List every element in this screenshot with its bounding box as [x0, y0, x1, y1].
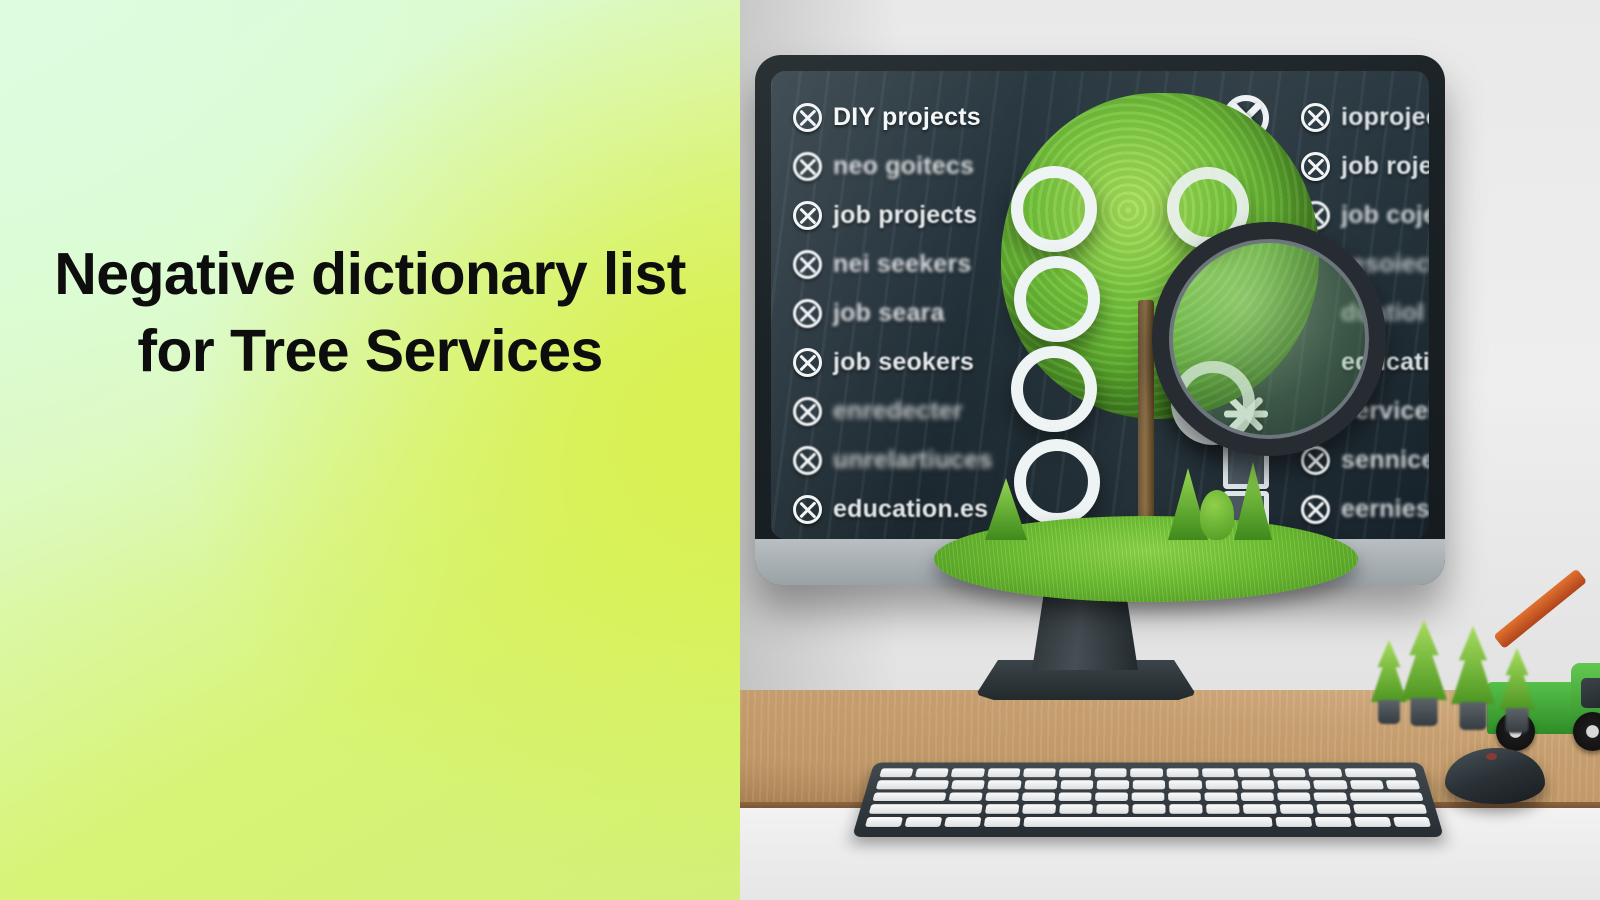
x-circle-icon [1301, 152, 1330, 181]
x-circle-badge [1011, 346, 1097, 432]
mini-tree-foliage [1451, 626, 1495, 704]
keyboard-row [865, 817, 1431, 827]
x-circle-icon [793, 299, 822, 328]
toy-truck-window [1581, 678, 1600, 708]
list-item-label: eernies [1341, 495, 1429, 524]
magnifying-glass [1152, 222, 1386, 456]
x-circle-icon [1301, 446, 1330, 475]
x-circle-icon [793, 446, 822, 475]
x-circle-icon [793, 250, 822, 279]
x-circle-icon [1301, 495, 1330, 524]
mini-tree-pot [1460, 702, 1487, 730]
keyboard[interactable] [852, 762, 1444, 837]
mini-tree-foliage [1499, 648, 1535, 710]
list-item-label: nei seekers [833, 250, 971, 279]
list-item-label: education.es [833, 495, 988, 524]
x-circle-icon [793, 495, 822, 524]
list-item-label: job projects [833, 201, 977, 230]
x-circle-icon [793, 201, 822, 230]
island-bush [1200, 490, 1234, 540]
list-item-label: DIY projects [833, 103, 981, 132]
mini-potted-tree [1398, 620, 1450, 728]
mini-tree-pot [1506, 708, 1529, 733]
left-gradient-panel: Negative dictionary list for Tree Servic… [0, 0, 740, 900]
list-item[interactable]: job cojec's [1301, 191, 1429, 240]
list-item-label: job seokers [833, 348, 974, 377]
list-item-label: ioprojects [1341, 103, 1429, 132]
list-item[interactable]: ioprojects [1301, 93, 1429, 142]
x-circle-icon [793, 348, 822, 377]
list-item-label: unrelartiuces [833, 446, 993, 475]
x-circle-badge [1011, 166, 1097, 252]
list-item-label: job rojects [1341, 152, 1429, 181]
screenshot-root: Negative dictionary list for Tree Servic… [0, 0, 1600, 900]
x-circle-badge [1014, 256, 1100, 342]
mouse-scroll-wheel[interactable] [1486, 753, 1497, 760]
x-circle-icon [793, 152, 822, 181]
keyboard-row [869, 805, 1428, 814]
mini-tree-pot [1378, 700, 1400, 724]
list-item[interactable]: job rojects [1301, 142, 1429, 191]
mini-potted-tree [1448, 626, 1498, 730]
mini-tree-foliage [1401, 620, 1447, 700]
list-item-label: sennices [1341, 446, 1429, 475]
page-title: Negative dictionary list for Tree Servic… [0, 236, 740, 391]
list-item-label: neo goitecs [833, 152, 974, 181]
mini-potted-tree [1496, 648, 1538, 732]
keyboard-keys [865, 768, 1431, 827]
x-circle-icon [1301, 103, 1330, 132]
list-item[interactable]: eernies [1301, 485, 1429, 534]
list-item[interactable]: DIY projects [793, 93, 1083, 142]
x-circle-icon [793, 397, 822, 426]
mini-tree-pot [1411, 698, 1438, 726]
list-item-label: job seara [833, 299, 945, 328]
x-circle-icon [793, 103, 822, 132]
x-circle-badge [1014, 439, 1100, 525]
keyboard-row [872, 792, 1423, 801]
hero-photo-panel: DIY projects neo goitecs job projects ne… [740, 0, 1600, 900]
list-item-label: job cojec's [1341, 201, 1429, 230]
keyboard-row [879, 768, 1416, 777]
list-item-label: enredecter [833, 397, 963, 426]
keyboard-row [876, 780, 1420, 789]
